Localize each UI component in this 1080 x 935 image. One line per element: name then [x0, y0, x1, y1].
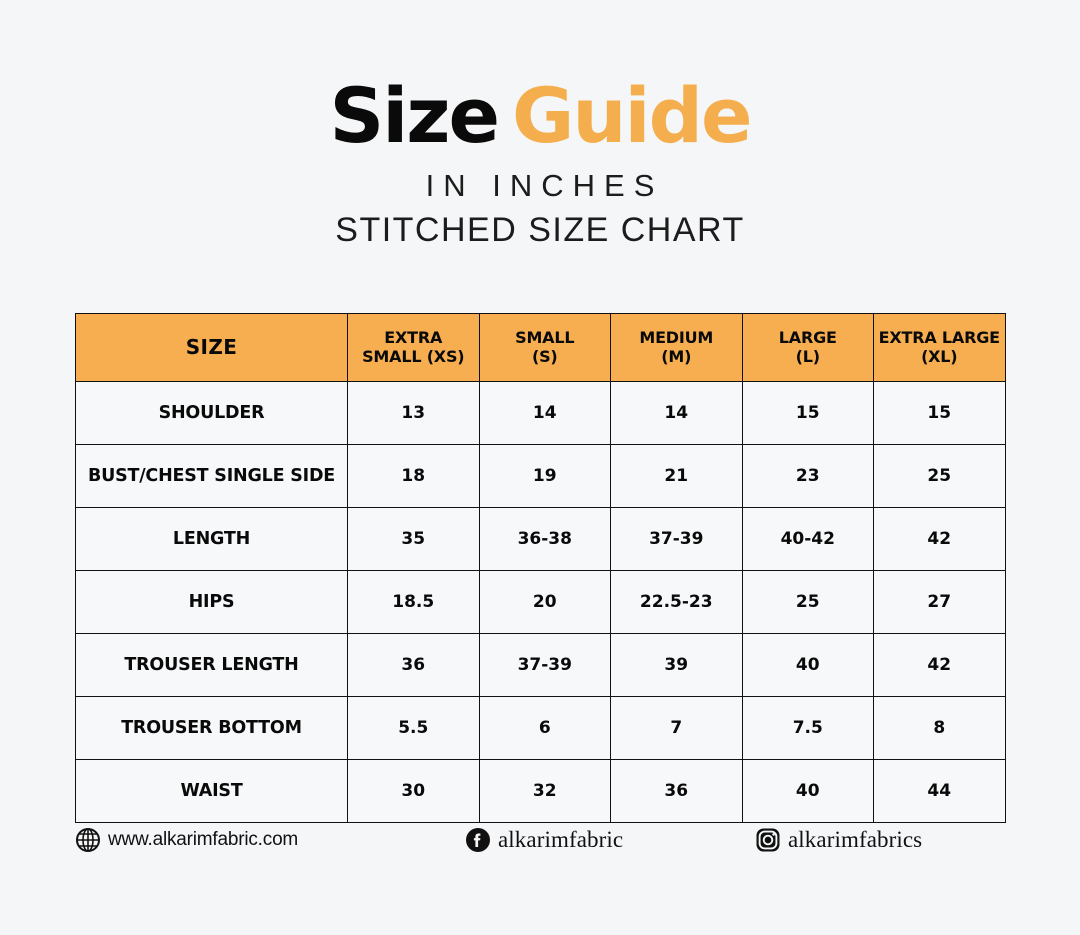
column-header-size: SIZE [76, 314, 348, 382]
cell-trouser-bottom-xl: 8 [874, 697, 1006, 760]
cell-hips-s: 20 [479, 571, 611, 634]
footer-website[interactable]: www.alkarimfabric.com [75, 827, 465, 853]
column-header-s-line-1: SMALL [515, 328, 574, 347]
row-label-bust-chest-single-side: BUST/CHEST SINGLE SIDE [76, 445, 348, 508]
globe-icon [75, 827, 101, 853]
row-label-trouser-length: TROUSER LENGTH [76, 634, 348, 697]
title-word-size: Size [329, 71, 498, 160]
cell-shoulder-xl: 15 [874, 382, 1006, 445]
page-title: SizeGuide [0, 78, 1080, 154]
row-label-length: LENGTH [76, 508, 348, 571]
cell-bust-xl: 25 [874, 445, 1006, 508]
size-chart-table: SIZE EXTRA SMALL (XS) SMALL (S) MEDIUM (… [75, 313, 1006, 823]
cell-length-xs: 35 [348, 508, 480, 571]
footer-facebook[interactable]: alkarimfabric [465, 827, 755, 853]
column-header-m-line-2: (M) [661, 347, 691, 366]
cell-length-l: 40-42 [742, 508, 874, 571]
table-row: SHOULDER 13 14 14 15 15 [76, 382, 1006, 445]
column-header-xs-line-1: EXTRA [384, 328, 442, 347]
website-label: www.alkarimfabric.com [108, 829, 298, 851]
cell-length-xl: 42 [874, 508, 1006, 571]
cell-hips-m: 22.5-23 [611, 571, 743, 634]
column-header-xl: EXTRA LARGE (XL) [874, 314, 1006, 382]
cell-trouser-length-m: 39 [611, 634, 743, 697]
column-header-size-line-1: SIZE [186, 335, 238, 359]
cell-bust-l: 23 [742, 445, 874, 508]
table-row: LENGTH 35 36-38 37-39 40-42 42 [76, 508, 1006, 571]
cell-bust-m: 21 [611, 445, 743, 508]
cell-trouser-length-xl: 42 [874, 634, 1006, 697]
column-header-l-line-2: (L) [796, 347, 820, 366]
instagram-label: alkarimfabrics [788, 827, 922, 853]
footer: www.alkarimfabric.com alkarimfabric [75, 805, 1005, 875]
table-body: SHOULDER 13 14 14 15 15 BUST/CHEST SINGL… [76, 382, 1006, 823]
cell-hips-xl: 27 [874, 571, 1006, 634]
cell-trouser-length-s: 37-39 [479, 634, 611, 697]
column-header-xl-line-1: EXTRA LARGE [879, 328, 1000, 347]
column-header-l: LARGE (L) [742, 314, 874, 382]
cell-shoulder-m: 14 [611, 382, 743, 445]
row-label-shoulder: SHOULDER [76, 382, 348, 445]
facebook-label: alkarimfabric [498, 827, 623, 853]
cell-hips-l: 25 [742, 571, 874, 634]
facebook-icon [465, 827, 491, 853]
table-row: TROUSER LENGTH 36 37-39 39 40 42 [76, 634, 1006, 697]
title-block: SizeGuide IN INCHES STITCHED SIZE CHART [0, 78, 1080, 250]
cell-trouser-bottom-m: 7 [611, 697, 743, 760]
cell-length-s: 36-38 [479, 508, 611, 571]
cell-bust-xs: 18 [348, 445, 480, 508]
cell-trouser-bottom-xs: 5.5 [348, 697, 480, 760]
column-header-xs: EXTRA SMALL (XS) [348, 314, 480, 382]
footer-instagram[interactable]: alkarimfabrics [755, 827, 1005, 853]
column-header-l-line-1: LARGE [779, 328, 837, 347]
title-word-guide: Guide [512, 71, 750, 160]
cell-trouser-bottom-s: 6 [479, 697, 611, 760]
table-header: SIZE EXTRA SMALL (XS) SMALL (S) MEDIUM (… [76, 314, 1006, 382]
cell-shoulder-xs: 13 [348, 382, 480, 445]
size-table-container: SIZE EXTRA SMALL (XS) SMALL (S) MEDIUM (… [75, 313, 1005, 823]
cell-shoulder-l: 15 [742, 382, 874, 445]
cell-length-m: 37-39 [611, 508, 743, 571]
size-guide-page: SizeGuide IN INCHES STITCHED SIZE CHART … [0, 0, 1080, 935]
cell-hips-xs: 18.5 [348, 571, 480, 634]
cell-trouser-length-xs: 36 [348, 634, 480, 697]
table-row: BUST/CHEST SINGLE SIDE 18 19 21 23 25 [76, 445, 1006, 508]
column-header-m: MEDIUM (M) [611, 314, 743, 382]
cell-trouser-length-l: 40 [742, 634, 874, 697]
table-row: HIPS 18.5 20 22.5-23 25 27 [76, 571, 1006, 634]
column-header-xs-line-2: SMALL (XS) [362, 347, 464, 366]
table-header-row: SIZE EXTRA SMALL (XS) SMALL (S) MEDIUM (… [76, 314, 1006, 382]
subtitle-units: IN INCHES [0, 168, 1080, 204]
subtitle-chart-type: STITCHED SIZE CHART [0, 211, 1080, 250]
row-label-hips: HIPS [76, 571, 348, 634]
column-header-m-line-1: MEDIUM [639, 328, 713, 347]
cell-bust-s: 19 [479, 445, 611, 508]
table-row: TROUSER BOTTOM 5.5 6 7 7.5 8 [76, 697, 1006, 760]
cell-shoulder-s: 14 [479, 382, 611, 445]
column-header-s-line-2: (S) [532, 347, 558, 366]
column-header-s: SMALL (S) [479, 314, 611, 382]
column-header-xl-line-2: (XL) [921, 347, 957, 366]
instagram-icon [755, 827, 781, 853]
cell-trouser-bottom-l: 7.5 [742, 697, 874, 760]
row-label-trouser-bottom: TROUSER BOTTOM [76, 697, 348, 760]
